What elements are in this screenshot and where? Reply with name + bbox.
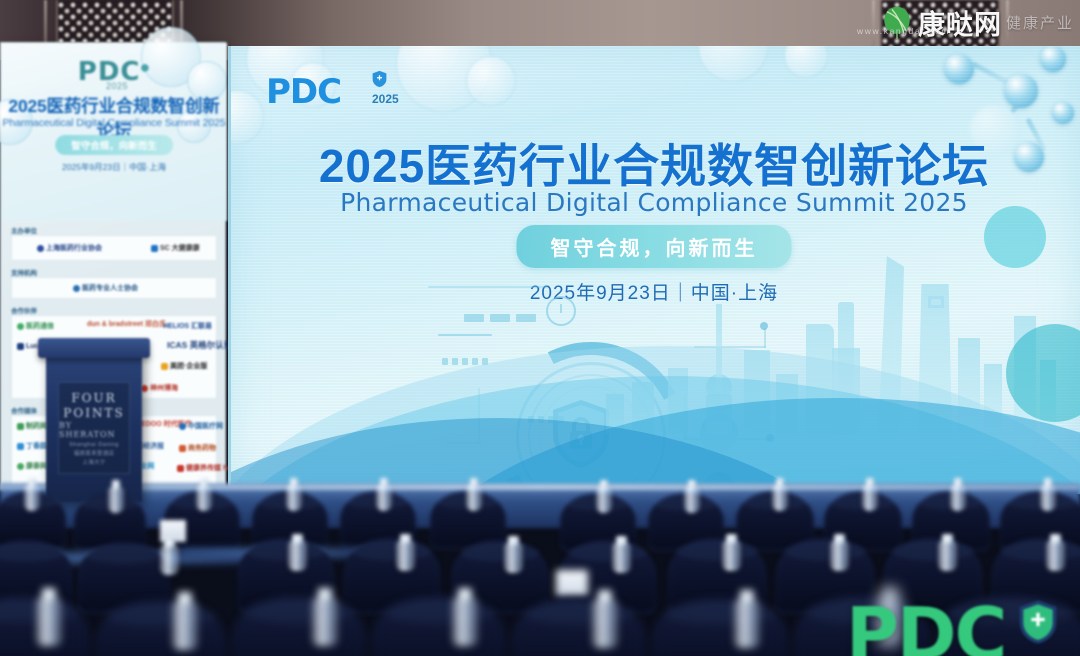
partner-logo: 医药通信 xyxy=(17,321,54,331)
organizer-logo: 上海医药行业协会 xyxy=(37,243,102,253)
poster-header: PDC● 2025 2025医药行业合规数智创新论坛 Pharmaceutica… xyxy=(1,43,227,221)
poster-section-label: 合作伙伴 xyxy=(11,305,37,315)
bottle-body xyxy=(950,485,966,511)
shield-icon: ● xyxy=(140,62,150,73)
media-logo: 商务药物 xyxy=(179,443,216,453)
poster-slogan: 智守合规，向新而生 xyxy=(55,135,173,155)
bottle-body xyxy=(862,485,878,511)
supporter-logo: 医药专业人士协会 xyxy=(73,283,138,293)
bottle-body xyxy=(612,543,631,573)
poster-section-label: 主办单位 xyxy=(11,225,37,235)
bottle-body xyxy=(452,598,478,646)
podium-line-points: POINTS xyxy=(63,406,124,420)
organizer-logo: SC 大健康康 xyxy=(151,243,200,253)
bottle-body xyxy=(312,598,338,646)
data-tick xyxy=(472,358,478,365)
partner-mark xyxy=(17,343,24,350)
org-mark xyxy=(37,245,44,252)
pdc-logo: PDC 2025 xyxy=(266,72,341,112)
bottle-body xyxy=(830,541,849,571)
partner-logo: ICAS 英格尔认证 xyxy=(167,339,232,351)
gauge-needle xyxy=(560,304,562,313)
screen-title-en: Pharmaceutical Digital Compliance Summit… xyxy=(228,188,1080,217)
media-mark xyxy=(17,443,24,450)
partner-mark xyxy=(161,363,168,370)
bottle-body xyxy=(592,600,618,648)
bottle-body xyxy=(196,485,212,511)
podium-line-cn2: 上海大宁 xyxy=(82,458,105,466)
bottle-body xyxy=(288,541,307,571)
partner-logo: 美团·企业版 xyxy=(161,361,207,371)
support-mark xyxy=(73,285,80,292)
bottle-body xyxy=(734,600,760,648)
circuit-line xyxy=(764,328,766,348)
bottle-body xyxy=(160,545,179,575)
bottle-body xyxy=(396,541,415,571)
data-bar xyxy=(516,314,536,322)
bottle-body xyxy=(504,543,523,573)
media-logo: 中国医疗网 xyxy=(179,421,223,431)
podium-line-cn1: 福朋喜来登酒店 xyxy=(74,449,115,457)
pdc-logo-text: PDC xyxy=(266,72,341,112)
podium-line-sheraton: BY SHERATON xyxy=(59,421,129,439)
seat xyxy=(372,596,506,656)
conference-photo: PDC● 2025 2025医药行业合规数智创新论坛 Pharmaceutica… xyxy=(0,0,1080,656)
screen-date-location: 2025年9月23日｜中国·上海 xyxy=(228,278,1080,305)
data-bar xyxy=(438,334,492,336)
swfc-aperture xyxy=(928,296,944,308)
data-tick xyxy=(452,358,458,365)
bottle-body xyxy=(596,487,612,513)
bottle-body xyxy=(1046,541,1065,571)
name-card xyxy=(556,570,588,596)
podium-top xyxy=(38,338,150,358)
data-bar xyxy=(490,314,510,322)
bottle-body xyxy=(376,485,392,511)
bottle-body xyxy=(466,485,482,511)
media-mark xyxy=(17,423,24,430)
partner-logo: HELIOS 汇联易 xyxy=(163,321,212,331)
bottle-body xyxy=(286,485,302,511)
watermark-tagline: 健康产业 xyxy=(1006,12,1074,33)
poster-section-label: 支持机构 xyxy=(11,267,37,277)
partner-mark xyxy=(17,323,24,330)
bottle-body xyxy=(108,487,124,513)
podium-line-four: FOUR xyxy=(71,391,116,405)
watermark-url: www.kangdar.com xyxy=(857,26,950,36)
bottle-body xyxy=(938,541,957,571)
poster-title-en: Pharmaceutical Digital Compliance Summit… xyxy=(1,117,227,129)
bottle-body xyxy=(36,598,62,646)
accent-circle xyxy=(984,206,1046,268)
partner-logo: 神州博海 xyxy=(141,383,178,393)
media-logo: 制药网 xyxy=(17,421,47,431)
podium-brand-plate: FOUR POINTS BY SHERATON Shanghai Daning … xyxy=(58,382,130,474)
seat xyxy=(96,600,226,656)
screen-title-cn: 2025医药行业合规数智创新论坛 xyxy=(228,130,1080,196)
media-logo: 丁香园 xyxy=(17,441,47,451)
bottle-body xyxy=(684,487,700,513)
bottle-body xyxy=(772,485,788,511)
poster-section-label: 合作媒体 xyxy=(11,405,37,415)
bottle-body xyxy=(172,602,198,650)
seat xyxy=(512,598,646,656)
shield-plus-icon xyxy=(1018,598,1058,646)
data-tick xyxy=(442,358,448,365)
data-bar xyxy=(464,314,484,322)
stage-edge xyxy=(0,484,1080,490)
partner-logo: dun & bradstreet 邓白氏 xyxy=(87,319,166,329)
media-mark xyxy=(177,465,184,472)
podium: FOUR POINTS BY SHERATON Shanghai Daning … xyxy=(46,352,142,502)
site-watermark: 康哒网 健康产业 xyxy=(880,2,1074,42)
pdc-logo-year: 2025 xyxy=(372,92,399,106)
bottle-body xyxy=(722,541,741,571)
media-mark xyxy=(17,463,24,470)
poster-pdc-year: 2025 xyxy=(106,81,128,91)
screen-slogan-badge: 智守合规，向新而生 xyxy=(517,225,792,268)
partner-mark xyxy=(141,385,148,392)
circuit-dot xyxy=(760,322,768,330)
media-mark xyxy=(179,445,186,452)
shield-plus-icon xyxy=(372,70,387,88)
bottle-body xyxy=(24,485,40,511)
media-mark xyxy=(179,423,186,430)
podium-line-daning: Shanghai Daning xyxy=(69,442,119,448)
org-mark xyxy=(151,245,158,252)
pdc-watermark-bottom: PDC xyxy=(846,592,1005,656)
data-bar xyxy=(428,286,548,288)
poster-date: 2025年9月23日｜中国·上海 xyxy=(1,161,227,173)
seat xyxy=(232,596,366,656)
data-tick xyxy=(462,358,468,365)
media-logo: 康泰网 xyxy=(17,461,47,471)
led-stage-screen: PDC 2025 2025医药行业合规数智创新论坛 Pharmaceutical… xyxy=(228,46,1080,494)
seat xyxy=(652,598,788,656)
bottle-body xyxy=(1040,485,1056,511)
